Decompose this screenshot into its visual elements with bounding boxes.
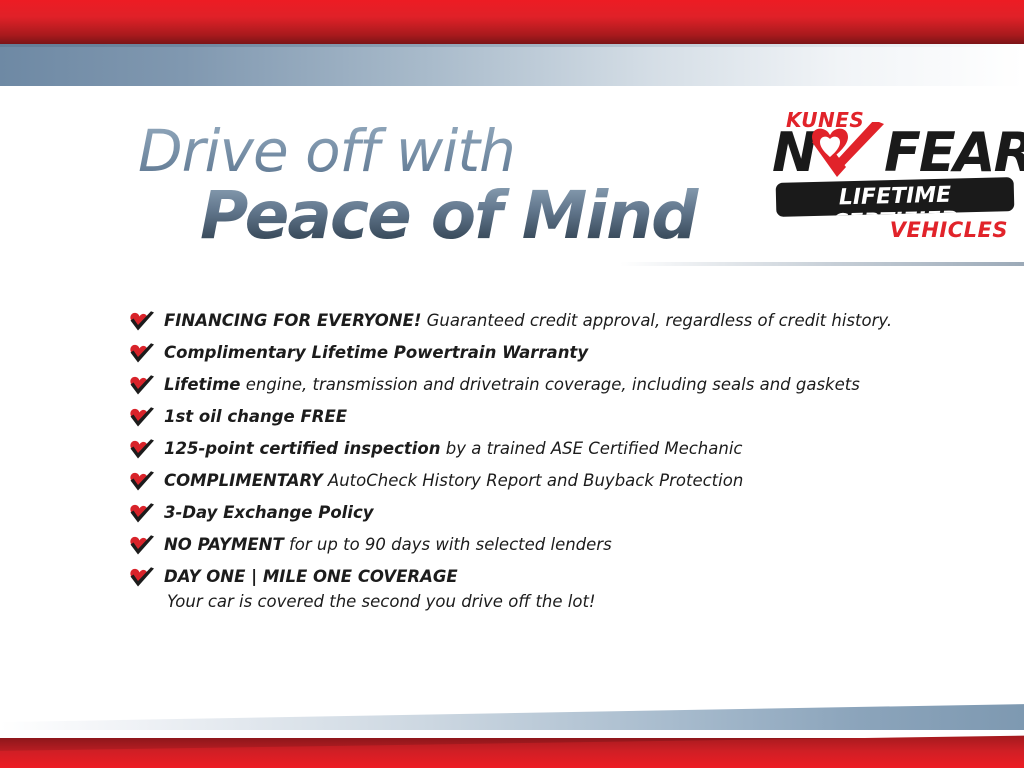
list-item-emphasis: COMPLIMENTARY — [164, 471, 323, 490]
list-item-emphasis: Lifetime — [164, 375, 240, 394]
list-item: DAY ONE | MILE ONE COVERAGE Your car is … — [128, 564, 928, 620]
top-slate-gradient-band — [0, 44, 1024, 86]
headline-block: Drive off with Peace of Mind — [138, 120, 758, 252]
check-heart-icon — [128, 343, 156, 365]
list-item-emphasis: FINANCING FOR EVERYONE! — [164, 311, 421, 330]
list-item: 3-Day Exchange Policy — [128, 500, 928, 532]
list-item-text: COMPLIMENTARY AutoCheck History Report a… — [164, 471, 743, 490]
headline-line-1: Drive off with — [138, 120, 758, 182]
list-item-emphasis: 1st oil change FREE — [164, 407, 347, 426]
list-item-emphasis: NO PAYMENT — [164, 535, 284, 554]
list-item-emphasis: 3-Day Exchange Policy — [164, 503, 374, 522]
top-red-band — [0, 0, 1024, 44]
logo-divider — [620, 262, 1024, 266]
list-item-rest: AutoCheck History Report and Buyback Pro… — [323, 471, 744, 490]
check-heart-icon — [128, 311, 156, 333]
list-item-text: 125-point certified inspection by a trai… — [164, 439, 742, 458]
list-item-emphasis: DAY ONE | MILE ONE COVERAGE — [164, 567, 458, 586]
check-heart-icon — [806, 122, 892, 188]
list-item-subtext: Your car is covered the second you drive… — [164, 590, 928, 614]
list-item-text: DAY ONE | MILE ONE COVERAGE — [164, 567, 458, 586]
list-item-text: 3-Day Exchange Policy — [164, 503, 374, 522]
check-heart-icon — [128, 407, 156, 429]
list-item: 1st oil change FREE — [128, 404, 928, 436]
check-heart-icon — [128, 535, 156, 557]
check-heart-icon — [128, 471, 156, 493]
list-item-emphasis: Complimentary Lifetime Powertrain Warran… — [164, 343, 588, 362]
check-heart-icon — [128, 567, 156, 589]
list-item-text: Lifetime engine, transmission and drivet… — [164, 375, 860, 394]
list-item-text: FINANCING FOR EVERYONE! Guaranteed credi… — [164, 311, 892, 330]
check-heart-icon — [128, 375, 156, 397]
promo-poster: Drive off with Peace of Mind KUNES N FEA… — [0, 0, 1024, 768]
list-item: Lifetime engine, transmission and drivet… — [128, 372, 928, 404]
list-item-text: NO PAYMENT for up to 90 days with select… — [164, 535, 612, 554]
list-item: COMPLIMENTARY AutoCheck History Report a… — [128, 468, 928, 500]
kunes-no-fear-logo: KUNES N FEAR LIFETIME CERTIFIED VEHICLES — [770, 108, 1014, 248]
benefits-list: FINANCING FOR EVERYONE! Guaranteed credi… — [128, 308, 928, 620]
list-item-text: Complimentary Lifetime Powertrain Warran… — [164, 343, 588, 362]
headline-line-2: Peace of Mind — [138, 180, 758, 252]
list-item: NO PAYMENT for up to 90 days with select… — [128, 532, 928, 564]
check-heart-icon — [128, 439, 156, 461]
list-item: Complimentary Lifetime Powertrain Warran… — [128, 340, 928, 372]
bottom-slate-gradient-band — [0, 694, 1024, 730]
list-item-text: 1st oil change FREE — [164, 407, 347, 426]
list-item-rest: engine, transmission and drivetrain cove… — [240, 375, 859, 394]
list-item-emphasis: 125-point certified inspection — [164, 439, 441, 458]
logo-lifetime-certified-text: LIFETIME CERTIFIED — [776, 181, 1015, 217]
logo-lifetime-certified-bar: LIFETIME CERTIFIED — [776, 177, 1015, 217]
list-item-rest: Guaranteed credit approval, regardless o… — [421, 311, 892, 330]
list-item: 125-point certified inspection by a trai… — [128, 436, 928, 468]
logo-vehicles-text: VEHICLES — [890, 218, 1008, 242]
list-item-rest: for up to 90 days with selected lenders — [284, 535, 612, 554]
list-item-rest: by a trained ASE Certified Mechanic — [441, 439, 743, 458]
logo-nofear-group: N FEAR — [772, 126, 1016, 182]
check-heart-icon — [128, 503, 156, 525]
logo-word-fear: FEAR — [884, 126, 1024, 180]
list-item: FINANCING FOR EVERYONE! Guaranteed credi… — [128, 308, 928, 340]
